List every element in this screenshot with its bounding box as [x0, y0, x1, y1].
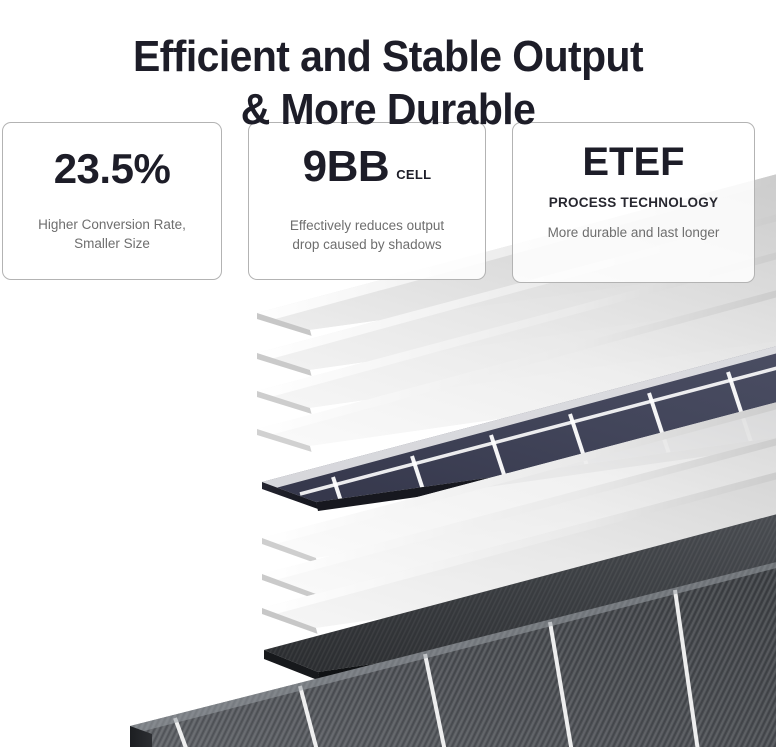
feature-description-busbar-cell: Effectively reduces output drop caused b…	[249, 216, 485, 254]
feature-value-suffix: CELL	[396, 167, 431, 182]
feature-description-etef-process: More durable and last longer	[513, 223, 754, 242]
feature-value-busbar-cell: 9BBCELL	[249, 145, 485, 189]
promo-panel-graphic: Efficient and Stable Output & More Durab…	[0, 0, 776, 747]
feature-subtitle-etef-process: PROCESS TECHNOLOGY	[513, 195, 754, 210]
feature-card-conversion-rate: 23.5% Higher Conversion Rate, Smaller Si…	[2, 122, 222, 280]
feature-card-busbar-cell: 9BBCELL Effectively reduces output drop …	[248, 122, 486, 280]
feature-description-conversion-rate: Higher Conversion Rate, Smaller Size	[3, 215, 221, 253]
headline-line-1: Efficient and Stable Output	[27, 30, 749, 83]
feature-desc-line-2: Smaller Size	[15, 234, 209, 253]
feature-desc-line-2: drop caused by shadows	[261, 235, 473, 254]
feature-value-etef-process: ETEF	[513, 142, 754, 182]
feature-desc-line-1: More durable and last longer	[525, 223, 742, 242]
feature-value-conversion-rate: 23.5%	[3, 148, 221, 190]
headline-line-2: & More Durable	[27, 83, 749, 136]
feature-desc-line-1: Effectively reduces output	[261, 216, 473, 235]
feature-desc-line-1: Higher Conversion Rate,	[15, 215, 209, 234]
page-title: Efficient and Stable Output & More Durab…	[0, 29, 776, 136]
feature-value-text: 9BB	[303, 142, 390, 191]
feature-card-etef-process: ETEF PROCESS TECHNOLOGY More durable and…	[512, 122, 755, 283]
